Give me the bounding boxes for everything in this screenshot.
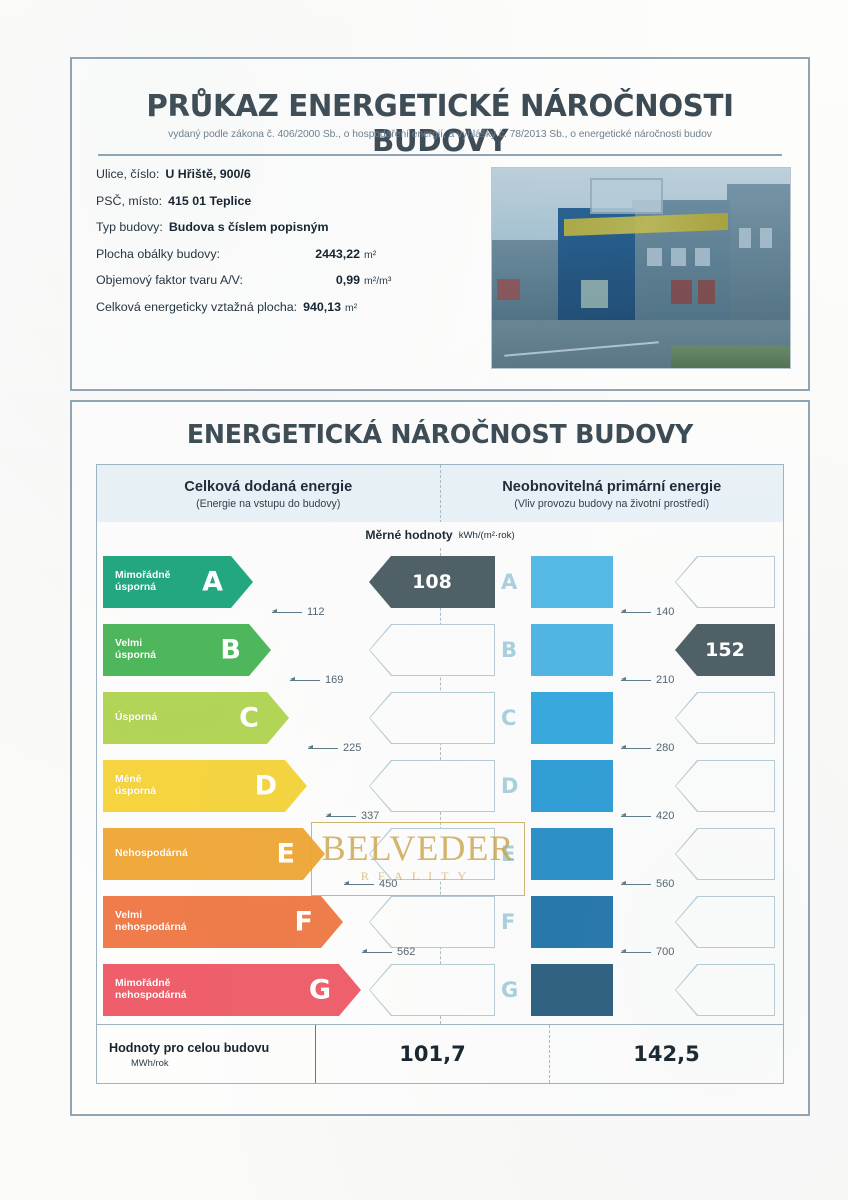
primary-bar-g (531, 964, 613, 1016)
energy-section-title: ENERGETICKÁ NÁROČNOST BUDOVY (83, 420, 797, 450)
delivered-class-letter: B (501, 638, 517, 662)
primary-threshold-tick: 420 (621, 810, 674, 822)
tick-arrow-icon (362, 952, 392, 953)
ident-row-zip: PSČ, místo: 415 01 Teplice (96, 194, 496, 208)
primary-threshold-tick: 280 (621, 742, 674, 754)
ident-row-floor-area: Celková energeticky vztažná plocha: 940,… (96, 300, 496, 314)
delivered-marker-g (369, 964, 495, 1016)
primary-threshold-value: 140 (656, 606, 674, 618)
delivered-threshold-tick: 169 (290, 674, 343, 686)
energy-class-row: MéněúspornáDD (97, 760, 783, 812)
document-subtitle: vydaný podle zákona č. 406/2000 Sb., o h… (96, 129, 784, 140)
primary-marker-g (675, 964, 775, 1016)
marker-fill (370, 965, 494, 1015)
marker-fill (370, 625, 494, 675)
delivered-threshold-value: 225 (343, 742, 361, 754)
header-panel: PRŮKAZ ENERGETICKÉ NÁROČNOSTI BUDOVY vyd… (70, 57, 810, 391)
marker-fill (370, 897, 494, 947)
tick-arrow-icon (272, 612, 302, 613)
shape-factor-label: Objemový faktor tvaru A/V: (96, 273, 292, 287)
class-band-b: VelmiúspornáB (103, 624, 271, 676)
class-band-letter: D (255, 771, 277, 802)
zip-value: 415 01 Teplice (168, 194, 251, 208)
primary-threshold-tick: 700 (621, 946, 674, 958)
photo-blue-tint (492, 168, 790, 368)
class-band-a: MimořádněúspornáA (103, 556, 253, 608)
energy-class-row: ÚspornáCC (97, 692, 783, 744)
class-band-letter: C (239, 703, 259, 734)
delivered-marker-f (369, 896, 495, 948)
building-type-label: Typ budovy: (96, 220, 163, 234)
primary-title: Neobnovitelná primární energie (502, 479, 721, 495)
primary-value: 152 (705, 639, 745, 661)
class-band-d: MéněúspornáD (103, 760, 307, 812)
primary-threshold-tick: 140 (621, 606, 674, 618)
class-band-letter: F (295, 907, 313, 938)
class-band-letter: A (202, 567, 223, 598)
delivered-class-letter: G (501, 978, 518, 1002)
tick-arrow-icon (621, 884, 651, 885)
class-band-label: Úsporná (103, 712, 157, 724)
delivered-threshold-tick: 450 (344, 878, 397, 890)
floor-area-label: Celková energeticky vztažná plocha: (96, 300, 297, 314)
ident-row-shape-factor: Objemový faktor tvaru A/V: 0,99 m²/m³ (96, 273, 496, 287)
class-band-letter: G (309, 975, 331, 1006)
primary-marker-c (675, 692, 775, 744)
primary-marker-b: 152 (675, 624, 775, 676)
unit-bar: Měrné hodnoty kWh/(m²·rok) (96, 522, 784, 549)
marker-fill (370, 829, 494, 879)
delivered-threshold-value: 450 (379, 878, 397, 890)
energy-panel: ENERGETICKÁ NÁROČNOST BUDOVY Celková dod… (70, 400, 810, 1116)
primary-subtitle: (Vliv provozu budovy na životní prostřed… (514, 498, 709, 510)
street-label: Ulice, číslo: (96, 167, 159, 181)
delivered-threshold-tick: 562 (362, 946, 415, 958)
envelope-area-label: Plocha obálky budovy: (96, 247, 292, 261)
primary-bar-e (531, 828, 613, 880)
primary-bar-c (531, 692, 613, 744)
shape-factor-value: 0,99 (292, 273, 360, 287)
delivered-marker-c (369, 692, 495, 744)
unit-value: kWh/(m²·rok) (459, 530, 515, 541)
floor-area-value: 940,13 (303, 300, 341, 314)
class-band-label: Méněúsporná (103, 774, 156, 799)
delivered-marker-d (369, 760, 495, 812)
tick-arrow-icon (621, 952, 651, 953)
summary-row: Hodnoty pro celou budovu MWh/rok 101,7 1… (96, 1024, 784, 1084)
primary-marker-d (675, 760, 775, 812)
column-header-primary: Neobnovitelná primární energie (Vliv pro… (441, 465, 784, 523)
tick-arrow-icon (621, 748, 651, 749)
class-band-e: NehospodárnáE (103, 828, 325, 880)
primary-marker-a (675, 556, 775, 608)
primary-threshold-tick: 210 (621, 674, 674, 686)
document-title: PRŮKAZ ENERGETICKÉ NÁROČNOSTI BUDOVY (87, 89, 794, 159)
tick-arrow-icon (621, 680, 651, 681)
zip-label: PSČ, místo: (96, 194, 162, 208)
delivered-marker-e (369, 828, 495, 880)
delivered-class-letter: F (501, 910, 515, 934)
tick-arrow-icon (308, 748, 338, 749)
energy-class-row: VelminehospodárnáFF (97, 896, 783, 948)
primary-marker-e (675, 828, 775, 880)
primary-bar-b (531, 624, 613, 676)
summary-label: Hodnoty pro celou budovu (109, 1041, 315, 1055)
delivered-title: Celková dodaná energie (184, 479, 352, 495)
delivered-marker-b (369, 624, 495, 676)
tick-arrow-icon (621, 612, 651, 613)
marker-fill (370, 761, 494, 811)
delivered-marker-a: 108 (369, 556, 495, 608)
building-photo (491, 167, 791, 369)
primary-threshold-value: 560 (656, 878, 674, 890)
energy-class-row: MimořádněúspornáA108A (97, 556, 783, 608)
primary-bar-d (531, 760, 613, 812)
delivered-value: 108 (412, 571, 452, 593)
tick-arrow-icon (290, 680, 320, 681)
column-header-delivered: Celková dodaná energie (Energie na vstup… (97, 465, 441, 523)
title-divider (98, 154, 782, 156)
primary-marker-f (675, 896, 775, 948)
primary-threshold-value: 700 (656, 946, 674, 958)
class-band-label: Velmiúsporná (103, 638, 156, 663)
primary-bar-f (531, 896, 613, 948)
delivered-threshold-tick: 337 (326, 810, 379, 822)
identification-block: Ulice, číslo: U Hřiště, 900/6 PSČ, místo… (96, 167, 496, 326)
floor-area-unit: m² (345, 302, 357, 314)
tick-arrow-icon (344, 884, 374, 885)
delivered-threshold-tick: 112 (272, 606, 325, 618)
class-band-letter: B (220, 635, 241, 666)
primary-threshold-value: 210 (656, 674, 674, 686)
delivered-class-letter: A (501, 570, 517, 594)
energy-class-row: VelmiúspornáBB152 (97, 624, 783, 676)
primary-threshold-value: 280 (656, 742, 674, 754)
delivered-class-letter: D (501, 774, 518, 798)
envelope-area-value: 2443,22 (292, 247, 360, 261)
envelope-area-unit: m² (364, 249, 376, 261)
class-band-label: Mimořádněnehospodárná (103, 978, 187, 1003)
tick-arrow-icon (326, 816, 356, 817)
energy-class-row: MimořádněnehospodárnáGG (97, 964, 783, 1016)
summary-unit: MWh/rok (109, 1057, 315, 1068)
delivered-threshold-value: 112 (307, 606, 325, 618)
ident-row-street: Ulice, číslo: U Hřiště, 900/6 (96, 167, 496, 181)
column-headers: Celková dodaná energie (Energie na vstup… (96, 464, 784, 524)
delivered-threshold-value: 337 (361, 810, 379, 822)
delivered-class-letter: C (501, 706, 516, 730)
ident-row-envelope: Plocha obálky budovy: 2443,22 m² (96, 247, 496, 261)
primary-bar-a (531, 556, 613, 608)
class-band-c: ÚspornáC (103, 692, 289, 744)
primary-threshold-tick: 560 (621, 878, 674, 890)
class-band-f: VelminehospodárnáF (103, 896, 343, 948)
primary-threshold-value: 420 (656, 810, 674, 822)
ident-row-type: Typ budovy: Budova s číslem popisným (96, 220, 496, 234)
summary-delivered-value: 101,7 (316, 1025, 550, 1083)
delivered-class-letter: E (501, 842, 515, 866)
class-band-letter: E (277, 839, 295, 870)
class-band-g: MimořádněnehospodárnáG (103, 964, 361, 1016)
building-type-value: Budova s číslem popisným (169, 220, 329, 234)
class-band-label: Mimořádněúsporná (103, 570, 170, 595)
shape-factor-unit: m²/m³ (364, 275, 391, 287)
energy-class-row: NehospodárnáEE (97, 828, 783, 880)
marker-fill (370, 693, 494, 743)
summary-label-cell: Hodnoty pro celou budovu MWh/rok (97, 1025, 316, 1083)
delivered-threshold-value: 562 (397, 946, 415, 958)
class-band-label: Velminehospodárná (103, 910, 187, 935)
delivered-threshold-value: 169 (325, 674, 343, 686)
tick-arrow-icon (621, 816, 651, 817)
delivered-subtitle: (Energie na vstupu do budovy) (196, 498, 340, 510)
summary-primary-value: 142,5 (550, 1025, 783, 1083)
energy-scale-chart: MimořádněúspornáA108AVelmiúspornáBB152Ús… (96, 548, 784, 1024)
street-value: U Hřiště, 900/6 (165, 167, 250, 181)
unit-label: Měrné hodnoty (365, 528, 452, 542)
certificate-page: PRŮKAZ ENERGETICKÉ NÁROČNOSTI BUDOVY vyd… (0, 0, 848, 1200)
delivered-threshold-tick: 225 (308, 742, 361, 754)
class-band-label: Nehospodárná (103, 848, 188, 860)
